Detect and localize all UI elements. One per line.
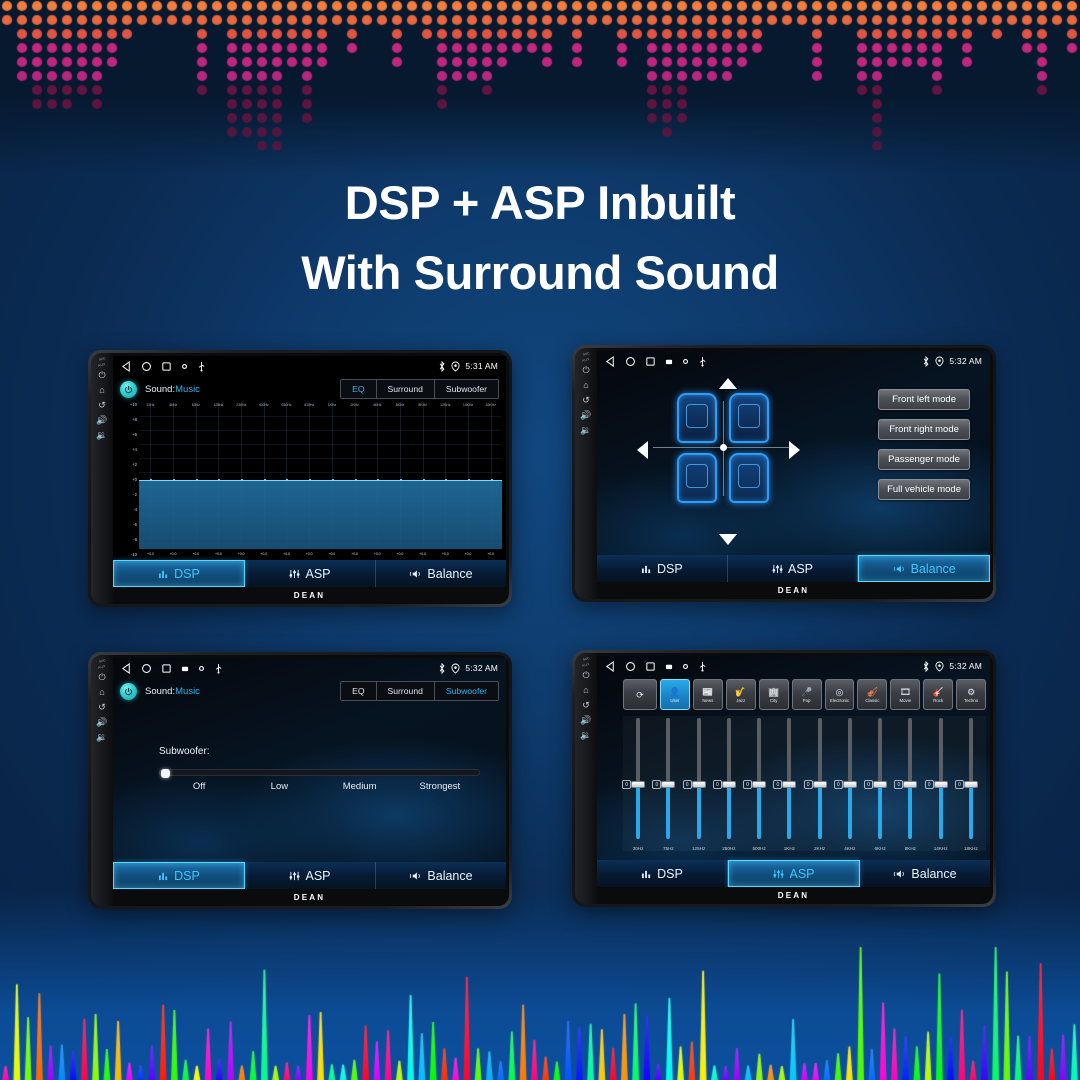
balance-position-dot[interactable]: [720, 444, 727, 451]
recents-square-icon[interactable]: [161, 361, 172, 372]
sliders-icon: [773, 869, 784, 879]
eq-val-11: +0.0: [389, 552, 412, 556]
mode-front-left-button[interactable]: Front left mode: [878, 389, 970, 410]
band-value: 0: [713, 780, 722, 789]
page-title: DSP + ASP Inbuilt With Surround Sound: [0, 168, 1080, 308]
preset-rock-button[interactable]: 🎸Rock: [923, 679, 953, 710]
band-fill: [908, 784, 912, 840]
back-triangle-icon[interactable]: [121, 663, 132, 674]
volume-up-icon[interactable]: 🔊: [580, 409, 591, 422]
band-knob[interactable]: [782, 781, 796, 788]
bezel-label-mic: MIC: [582, 351, 590, 357]
bezel-label-aux: AUX: [582, 662, 590, 668]
preset-label: Electronic: [830, 698, 849, 703]
location-icon: [935, 356, 944, 367]
status-bar: 5:32 AM: [597, 656, 990, 676]
band-knob[interactable]: [752, 781, 766, 788]
eq-val-4: +0.0: [230, 552, 253, 556]
headline-line-1: DSP + ASP Inbuilt: [0, 168, 1080, 238]
preset-label: Pop: [803, 698, 811, 703]
back-icon[interactable]: ↺: [98, 399, 106, 412]
eq-value-labels: +0.0+0.0+0.0+0.0+0.0+0.0+0.0+0.0+0.0+0.0…: [139, 552, 502, 556]
scale-low: Low: [239, 781, 319, 792]
preset-movie-button[interactable]: 🎞Movie: [890, 679, 920, 710]
tab-dsp[interactable]: DSP: [597, 555, 728, 582]
band-75Hz[interactable]: 075Hz: [653, 716, 683, 851]
band-frequency-label: 18KHz: [956, 846, 986, 851]
usb-icon: [214, 663, 223, 674]
eq-val-5: +0.0: [252, 552, 275, 556]
band-frequency-label: 250Hz: [714, 846, 744, 851]
scale-medium: Medium: [320, 781, 400, 792]
eq-val-2: +0.0: [184, 552, 207, 556]
eq-tick-8: 1KHz: [321, 403, 344, 407]
preset-button-row[interactable]: ⟳ 👤User📰News🎷Jazz🏢City🎤Pop◎Electronic🎻Cl…: [623, 679, 986, 710]
tab-asp-label: ASP: [789, 867, 814, 881]
tab-balance-label: Balance: [911, 562, 956, 576]
volume-down-icon[interactable]: 🔉: [580, 424, 591, 437]
brand-logo: DEAN: [597, 582, 990, 598]
screen-balance: 5:32 AM Front left mode: [597, 351, 990, 582]
bottom-tab-bar[interactable]: DSP ASP Balance: [113, 862, 506, 889]
sound-source-label: Sound:Music: [145, 384, 200, 395]
eq-tick-3: 125Hz: [207, 403, 230, 407]
gps-dot-icon: [682, 663, 689, 670]
volume-up-icon[interactable]: 🔊: [580, 714, 591, 727]
band-fill: [818, 784, 822, 840]
headline-line-2: With Surround Sound: [0, 238, 1080, 308]
eq-val-6: +0.0: [275, 552, 298, 556]
eq-val-15: +0.0: [479, 552, 502, 556]
band-knob[interactable]: [692, 781, 706, 788]
band-knob[interactable]: [934, 781, 948, 788]
eq-val-13: +0.0: [434, 552, 457, 556]
device-side-bezel: MIC AUX ⏻ ⌂ ↺ 🔊 🔉: [91, 353, 113, 604]
band-frequency-label: 8KHz: [895, 846, 925, 851]
sound-source-label: Sound:Music: [145, 686, 200, 697]
tab-balance-label: Balance: [427, 567, 472, 581]
sd-card-icon: [665, 663, 673, 670]
usb-icon: [698, 356, 707, 367]
recents-square-icon[interactable]: [645, 661, 656, 672]
sound-label-static: Sound:: [145, 384, 175, 395]
bezel-label-mic: MIC: [98, 356, 106, 362]
device-side-bezel: MIC AUX ⏻ ⌂ ↺ 🔊 🔉: [575, 653, 597, 904]
home-circle-icon[interactable]: [625, 661, 636, 672]
band-2KHz[interactable]: 02KHz: [805, 716, 835, 851]
power-icon[interactable]: ⏻: [582, 364, 589, 377]
scale-strongest: Strongest: [400, 781, 480, 792]
mode-segment-control[interactable]: EQ Surround Subwoofer: [340, 681, 499, 701]
band-fill: [636, 784, 640, 840]
tab-asp[interactable]: ASP: [728, 860, 860, 887]
segment-eq[interactable]: EQ: [341, 682, 376, 700]
seat-rear-left[interactable]: [677, 453, 717, 503]
preset-user-button[interactable]: 👤User: [660, 679, 690, 710]
tab-balance-label: Balance: [427, 869, 472, 883]
tab-asp-label: ASP: [305, 567, 330, 581]
bottom-tab-bar[interactable]: DSP ASP Balance: [113, 560, 506, 587]
status-time: 5:31 AM: [465, 361, 498, 371]
tab-balance[interactable]: Balance: [860, 860, 990, 887]
bezel-label-aux: AUX: [98, 362, 106, 368]
power-icon[interactable]: ⏻: [98, 671, 105, 684]
segment-subwoofer[interactable]: Subwoofer: [435, 380, 498, 398]
microphone-icon: 🎤: [801, 687, 812, 697]
eq-x-axis-labels: 31Hz46Hz63Hz125Hz230Hz400Hz630Hz810Hz1KH…: [139, 403, 502, 407]
tab-dsp-label: DSP: [174, 567, 200, 581]
arrow-right-icon[interactable]: [789, 441, 800, 459]
band-value: 0: [894, 780, 903, 789]
subwoofer-slider[interactable]: [159, 769, 480, 776]
bezel-label-mic: MIC: [98, 658, 106, 664]
news-icon: 📰: [702, 687, 713, 697]
home-icon[interactable]: ⌂: [583, 684, 588, 697]
knob-icon: ◎: [836, 687, 844, 697]
eq-tick-15: 16KHz: [479, 403, 502, 407]
eq-tick-13: 12KHz: [434, 403, 457, 407]
eq-val-0: +0.0: [139, 552, 162, 556]
eq-tick-1: 46Hz: [162, 403, 185, 407]
band-frequency-label: 6KHz: [865, 846, 895, 851]
mode-button-group[interactable]: Front left mode Front right mode Passeng…: [878, 389, 970, 500]
speaker-waves-icon: [409, 871, 422, 881]
device-side-bezel: MIC AUX ⏻ ⌂ ↺ 🔊 🔉: [91, 655, 113, 906]
mode-front-right-button[interactable]: Front right mode: [878, 419, 970, 440]
bluetooth-icon: [438, 663, 446, 674]
head-unit-dsp-eq: MIC AUX ⏻ ⌂ ↺ 🔊 🔉 5:31 A: [88, 350, 512, 607]
volume-up-icon[interactable]: 🔊: [96, 716, 107, 729]
back-icon[interactable]: ↺: [582, 394, 590, 407]
home-circle-icon[interactable]: [141, 361, 152, 372]
tab-dsp[interactable]: DSP: [597, 860, 728, 887]
mode-passenger-button[interactable]: Passenger mode: [878, 449, 970, 470]
seat-front-left[interactable]: [677, 393, 717, 443]
band-fill: [757, 784, 761, 840]
band-fill: [939, 784, 943, 840]
arrow-down-icon[interactable]: [719, 534, 737, 545]
back-triangle-icon[interactable]: [121, 361, 132, 372]
arrow-up-icon[interactable]: [719, 378, 737, 389]
band-value: 0: [622, 780, 631, 789]
film-reel-icon: 🎞: [900, 687, 911, 697]
band-knob[interactable]: [661, 781, 675, 788]
band-knob[interactable]: [722, 781, 736, 788]
band-frequency-label: 2KHz: [805, 846, 835, 851]
bezel-label-mic: MIC: [582, 656, 590, 662]
screen-subwoofer: 5:32 AM Sound:Music EQ Surround Subwoofe…: [113, 658, 506, 889]
bottom-tab-bar[interactable]: DSP ASP Balance: [597, 555, 990, 582]
screen-dsp-eq: 5:31 AM Sound:Music EQ Surround Subwoofe…: [113, 356, 506, 587]
sd-card-icon: [665, 358, 673, 365]
subwoofer-scale: Off Low Medium Strongest: [159, 781, 480, 792]
band-value: 0: [773, 780, 782, 789]
refresh-icon: ⟳: [636, 690, 644, 700]
band-frequency-label: 30Hz: [623, 846, 653, 851]
band-knob[interactable]: [873, 781, 887, 788]
speaker-waves-icon: [409, 569, 422, 579]
head-unit-subwoofer: MIC AUX ⏻ ⌂ ↺ 🔊 🔉: [88, 652, 512, 909]
tab-asp-label: ASP: [305, 869, 330, 883]
sliders-icon: [289, 871, 300, 881]
tab-dsp-label: DSP: [657, 562, 683, 576]
band-value: 0: [743, 780, 752, 789]
preset-pop-button[interactable]: 🎤Pop: [792, 679, 822, 710]
preset-jazz-button[interactable]: 🎷Jazz: [726, 679, 756, 710]
spectrum-bars-decoration: [0, 930, 1080, 1080]
status-bar: 5:32 AM: [113, 658, 506, 678]
tab-dsp[interactable]: DSP: [113, 862, 245, 889]
band-4KHz[interactable]: 04KHz: [835, 716, 865, 851]
status-bar: 5:32 AM: [597, 351, 990, 371]
bottom-tab-bar[interactable]: DSP ASP Balance: [597, 860, 990, 887]
eq-tick-0: 31Hz: [139, 403, 162, 407]
status-time: 5:32 AM: [949, 356, 982, 366]
status-bar: 5:31 AM: [113, 356, 506, 376]
tab-asp[interactable]: ASP: [728, 555, 859, 582]
bezel-label-aux: AUX: [582, 357, 590, 363]
back-icon[interactable]: ↺: [582, 699, 590, 712]
equalizer-bars-icon: [158, 871, 169, 881]
status-time: 5:32 AM: [465, 663, 498, 673]
preset-techno-button[interactable]: ⚙Techno: [956, 679, 986, 710]
gps-dot-icon: [198, 665, 205, 672]
home-icon[interactable]: ⌂: [99, 384, 104, 397]
mode-full-vehicle-button[interactable]: Full vehicle mode: [878, 479, 970, 500]
eq-tick-10: 4KHz: [366, 403, 389, 407]
equalizer-bars-icon: [641, 869, 652, 879]
eq-tick-2: 63Hz: [184, 403, 207, 407]
tab-dsp-label: DSP: [657, 867, 683, 881]
band-value: 0: [804, 780, 813, 789]
band-fill: [727, 784, 731, 840]
eq-val-14: +0.0: [457, 552, 480, 556]
band-18KHz[interactable]: 018KHz: [956, 716, 986, 851]
sound-label-value: Music: [175, 686, 200, 697]
bluetooth-icon: [922, 661, 930, 672]
tab-balance[interactable]: Balance: [858, 555, 990, 582]
home-icon[interactable]: ⌂: [99, 686, 104, 699]
violin-icon: 🎻: [867, 687, 878, 697]
saxophone-icon: 🎷: [735, 687, 746, 697]
band-fill: [697, 784, 701, 840]
band-frequency-label: 4KHz: [835, 846, 865, 851]
band-fill: [878, 784, 882, 840]
eq-curve-fill: [139, 480, 502, 550]
band-14KHz[interactable]: 014KHz: [926, 716, 956, 851]
subwoofer-label: Subwoofer:: [159, 746, 480, 757]
eq-tick-9: 2KHz: [343, 403, 366, 407]
recents-square-icon[interactable]: [161, 663, 172, 674]
segment-subwoofer[interactable]: Subwoofer: [435, 682, 498, 700]
tab-balance[interactable]: Balance: [376, 560, 506, 587]
location-icon: [451, 663, 460, 674]
tab-asp[interactable]: ASP: [245, 560, 376, 587]
recents-square-icon[interactable]: [645, 356, 656, 367]
sound-label-static: Sound:: [145, 686, 175, 697]
location-icon: [451, 361, 460, 372]
screen-asp: 5:32 AM ⟳ 👤User📰News🎷Jazz🏢City🎤Pop◎Elect…: [597, 656, 990, 887]
seat-front-right[interactable]: [729, 393, 769, 443]
eq-tick-6: 630Hz: [275, 403, 298, 407]
eq-tick-7: 810Hz: [298, 403, 321, 407]
scale-off: Off: [159, 781, 239, 792]
gps-dot-icon: [181, 363, 188, 370]
eq-curve-chart[interactable]: +10+8+6+4+2+0-2-4-6-8-10 31Hz46Hz63Hz125…: [139, 402, 502, 557]
eq-val-12: +0.0: [411, 552, 434, 556]
brand-logo: DEAN: [113, 587, 506, 603]
refresh-button[interactable]: ⟳: [623, 679, 657, 710]
tab-balance-label: Balance: [911, 867, 956, 881]
preset-label: News: [702, 698, 713, 703]
equalizer-bars-icon: [641, 564, 652, 574]
sliders-icon: [289, 569, 300, 579]
preset-label: Rock: [933, 698, 943, 703]
eq-val-7: +0.0: [298, 552, 321, 556]
preset-label: Techno: [964, 698, 978, 703]
head-unit-asp: MIC AUX ⏻ ⌂ ↺ 🔊 🔉: [572, 650, 996, 907]
bezel-label-aux: AUX: [98, 664, 106, 670]
device-side-bezel: MIC AUX ⏻ ⌂ ↺ 🔊 🔉: [575, 348, 597, 599]
location-icon: [935, 661, 944, 672]
tab-asp-label: ASP: [788, 562, 813, 576]
eq-tick-11: 6KHz: [389, 403, 412, 407]
volume-down-icon[interactable]: 🔉: [96, 429, 107, 442]
speaker-waves-icon: [893, 869, 906, 879]
balance-control-area[interactable]: Front left mode Front right mode Passeng…: [619, 371, 990, 555]
power-toggle-button[interactable]: [120, 381, 137, 398]
band-knob[interactable]: [843, 781, 857, 788]
band-knob[interactable]: [631, 781, 645, 788]
tab-dsp[interactable]: DSP: [113, 560, 245, 587]
home-circle-icon[interactable]: [625, 356, 636, 367]
eq-y-axis: +10+8+6+4+2+0-2-4-6-8-10: [117, 402, 139, 557]
band-500Hz[interactable]: 0500Hz: [744, 716, 774, 851]
band-frequency-label: 75Hz: [653, 846, 683, 851]
band-frequency-label: 500Hz: [744, 846, 774, 851]
seat-rear-right[interactable]: [729, 453, 769, 503]
guitar-icon: 🎸: [933, 687, 944, 697]
band-8KHz[interactable]: 08KHz: [895, 716, 925, 851]
brand-logo: DEAN: [113, 889, 506, 905]
back-icon[interactable]: ↺: [98, 701, 106, 714]
usb-icon: [698, 661, 707, 672]
status-time: 5:32 AM: [949, 661, 982, 671]
preset-label: Jazz: [736, 698, 745, 703]
eq-tick-12: 8KHz: [411, 403, 434, 407]
subwoofer-slider-knob[interactable]: [161, 769, 170, 778]
band-125Hz[interactable]: 0125Hz: [684, 716, 714, 851]
preset-city-button[interactable]: 🏢City: [759, 679, 789, 710]
band-value: 0: [864, 780, 873, 789]
preset-news-button[interactable]: 📰News: [693, 679, 723, 710]
eq-val-1: +0.0: [162, 552, 185, 556]
tab-balance[interactable]: Balance: [376, 862, 506, 889]
band-frequency-label: 125Hz: [684, 846, 714, 851]
back-triangle-icon[interactable]: [605, 356, 616, 367]
eq-tick-5: 400Hz: [252, 403, 275, 407]
sliders-icon: [772, 564, 783, 574]
band-value: 0: [683, 780, 692, 789]
preset-label: Movie: [899, 698, 911, 703]
power-icon[interactable]: ⏻: [582, 669, 589, 682]
band-1KHz[interactable]: 01KHz: [774, 716, 804, 851]
band-knob[interactable]: [813, 781, 827, 788]
mode-segment-control[interactable]: EQ Surround Subwoofer: [340, 379, 499, 399]
band-knob[interactable]: [964, 781, 978, 788]
volume-down-icon[interactable]: 🔉: [580, 729, 591, 742]
tab-dsp-label: DSP: [174, 869, 200, 883]
preset-label: Classic: [865, 698, 879, 703]
back-triangle-icon[interactable]: [605, 661, 616, 672]
band-250Hz[interactable]: 0250Hz: [714, 716, 744, 851]
home-icon[interactable]: ⌂: [583, 379, 588, 392]
gear-icon: ⚙: [967, 687, 975, 697]
dot-matrix-decoration: [0, 0, 1080, 150]
preset-label: City: [770, 698, 778, 703]
preset-electronic-button[interactable]: ◎Electronic: [825, 679, 855, 710]
arrow-left-icon[interactable]: [637, 441, 648, 459]
home-circle-icon[interactable]: [141, 663, 152, 674]
eq-val-3: +0.0: [207, 552, 230, 556]
head-unit-balance: MIC AUX ⏻ ⌂ ↺ 🔊 🔉: [572, 345, 996, 602]
speaker-waves-icon: [893, 564, 906, 574]
band-value: 0: [652, 780, 661, 789]
band-fill: [969, 784, 973, 840]
segment-surround[interactable]: Surround: [377, 682, 435, 700]
band-value: 0: [834, 780, 843, 789]
eq-tick-14: 14KHz: [457, 403, 480, 407]
preset-classic-button[interactable]: 🎻Classic: [857, 679, 887, 710]
brand-logo: DEAN: [597, 887, 990, 903]
band-value: 0: [925, 780, 934, 789]
eq-val-10: +0.0: [366, 552, 389, 556]
band-fill: [666, 784, 670, 840]
subwoofer-control: Subwoofer: Off Low Medium Strongest: [159, 746, 480, 792]
band-frequency-label: 14KHz: [926, 846, 956, 851]
segment-surround[interactable]: Surround: [377, 380, 435, 398]
eq-val-8: +0.0: [321, 552, 344, 556]
band-frequency-label: 1KHz: [774, 846, 804, 851]
band-fill: [787, 784, 791, 840]
user-icon: 👤: [669, 687, 680, 697]
bluetooth-icon: [922, 356, 930, 367]
power-toggle-button[interactable]: [120, 683, 137, 700]
preset-label: User: [670, 698, 679, 703]
sound-label-value: Music: [175, 384, 200, 395]
bluetooth-icon: [438, 361, 446, 372]
tab-asp[interactable]: ASP: [245, 862, 376, 889]
sd-card-icon: [181, 665, 189, 672]
band-30Hz[interactable]: 030Hz: [623, 716, 653, 851]
equalizer-band-sliders[interactable]: 030Hz075Hz0125Hz0250Hz0500Hz01KHz02KHz04…: [623, 716, 986, 851]
band-knob[interactable]: [903, 781, 917, 788]
band-fill: [848, 784, 852, 840]
building-icon: 🏢: [768, 687, 779, 697]
equalizer-bars-icon: [158, 569, 169, 579]
segment-eq[interactable]: EQ: [341, 380, 376, 398]
usb-icon: [197, 361, 206, 372]
eq-val-9: +0.0: [343, 552, 366, 556]
band-value: 0: [955, 780, 964, 789]
power-icon[interactable]: ⏻: [98, 369, 105, 382]
eq-tick-4: 230Hz: [230, 403, 253, 407]
volume-up-icon[interactable]: 🔊: [96, 414, 107, 427]
volume-down-icon[interactable]: 🔉: [96, 731, 107, 744]
band-6KHz[interactable]: 06KHz: [865, 716, 895, 851]
gps-dot-icon: [682, 358, 689, 365]
